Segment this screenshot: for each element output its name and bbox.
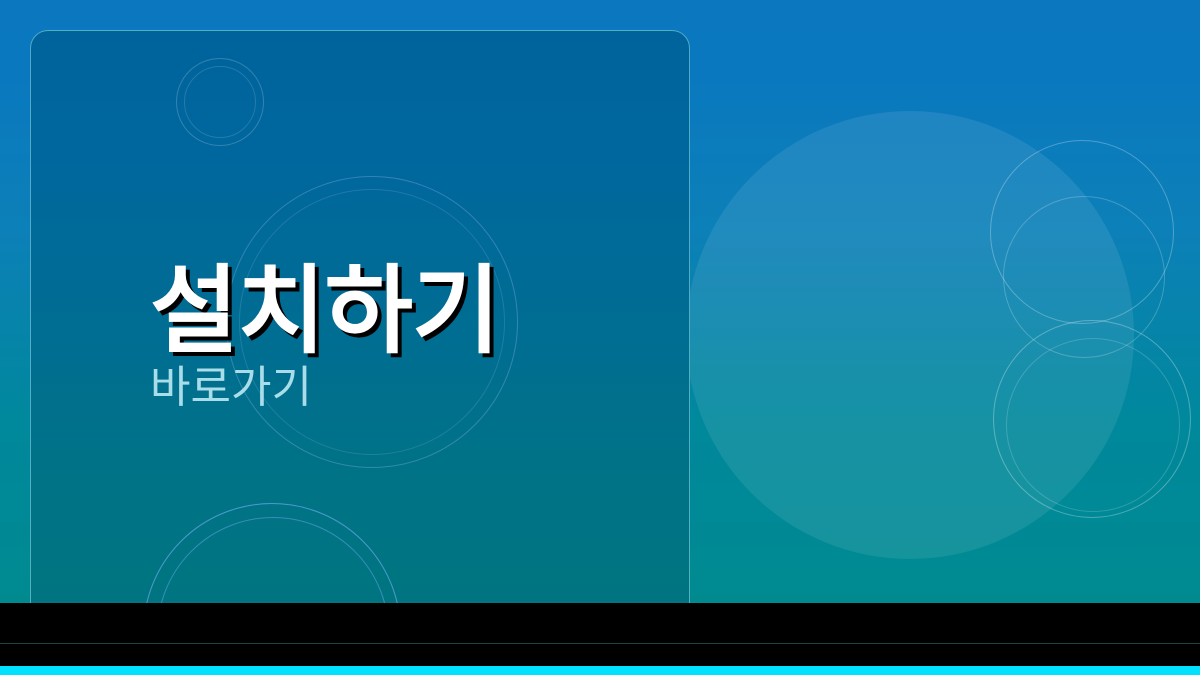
slide-canvas: 설치하기 바로가기: [0, 0, 1200, 675]
accent-strip: [0, 666, 1200, 675]
ring-card-top-left-icon: [176, 58, 264, 146]
page-title: 설치하기: [150, 262, 670, 362]
ring-card-top-left-inner-icon: [184, 66, 256, 138]
headline-block: 설치하기 바로가기: [150, 262, 670, 410]
band-divider: [0, 643, 1200, 644]
page-subtitle: 바로가기: [150, 366, 670, 410]
bottom-band: [0, 603, 1200, 675]
